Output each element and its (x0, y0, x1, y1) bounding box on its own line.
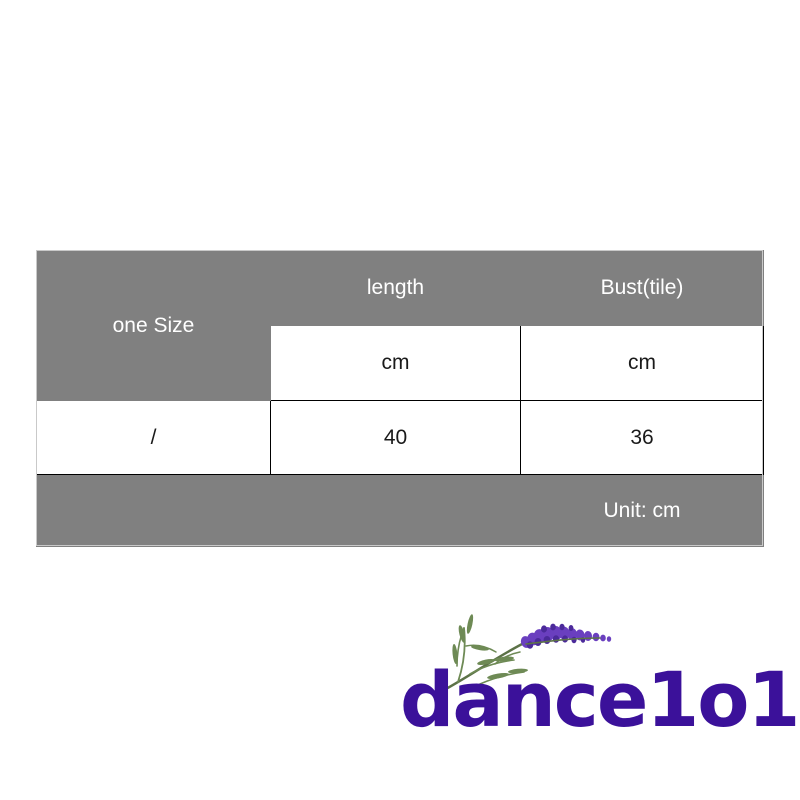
size-chart-table: one Size length Bust(tile) cm cm / 40 36… (36, 250, 764, 547)
cell-unit-length: cm (271, 326, 521, 401)
cell-footer-empty-1 (37, 475, 271, 547)
cell-length-value: 40 (271, 401, 521, 475)
brand-logo: dance1o1 (400, 604, 800, 764)
cell-header-bust: Bust(tile) (521, 251, 764, 326)
page-root: one Size length Bust(tile) cm cm / 40 36… (0, 0, 800, 800)
cell-size-label: one Size (37, 251, 271, 401)
cell-footer-empty-2 (271, 475, 521, 547)
cell-bust-value: 36 (521, 401, 764, 475)
cell-header-length: length (271, 251, 521, 326)
brand-wordmark: dance1o1 (400, 662, 800, 738)
table-row-footer: Unit: cm (37, 475, 764, 547)
cell-footer-unit-note: Unit: cm (521, 475, 764, 547)
table-row: / 40 36 (37, 401, 764, 475)
cell-size-value: / (37, 401, 271, 475)
table-row-header-primary: one Size length Bust(tile) (37, 251, 764, 326)
cell-unit-bust: cm (521, 326, 764, 401)
